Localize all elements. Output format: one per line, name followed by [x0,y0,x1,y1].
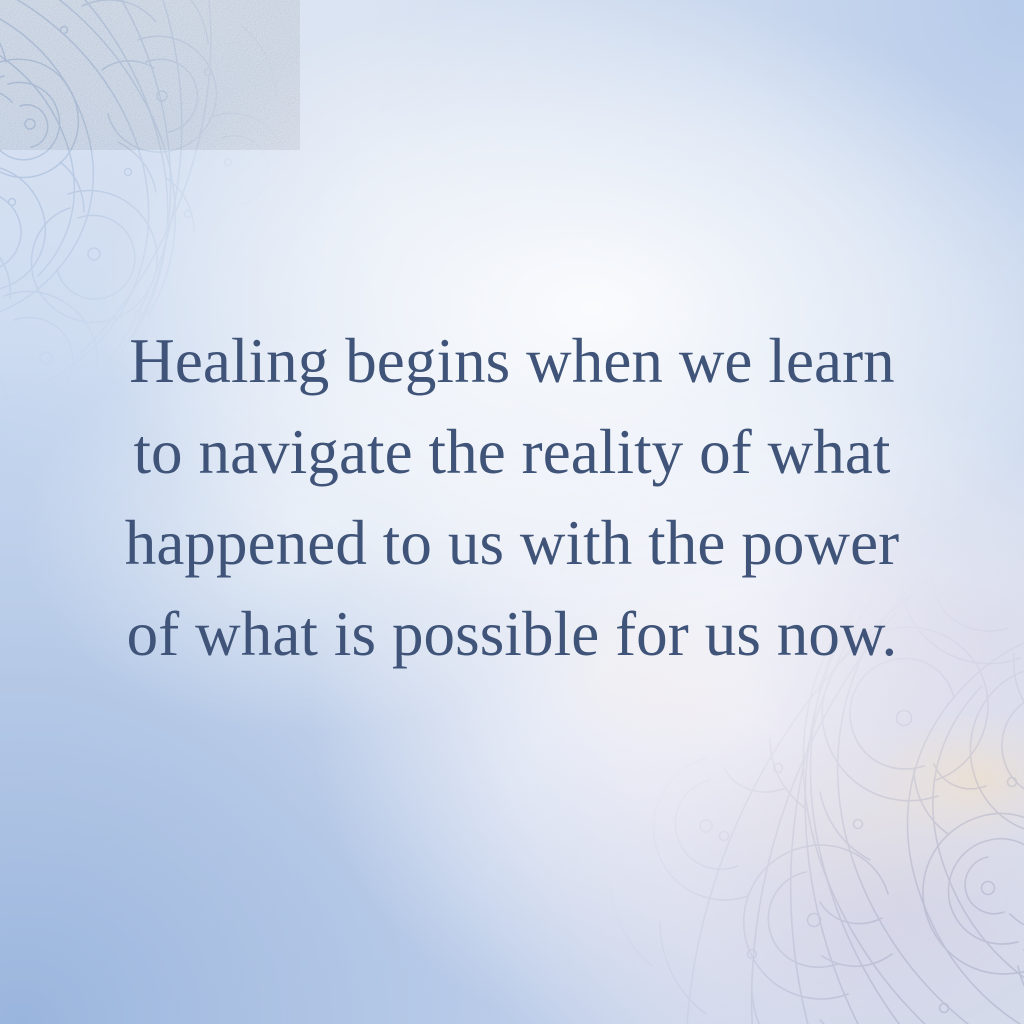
quote-line-3: happened to us with the power [48,498,976,589]
quote-line-1: Healing begins when we learn [48,316,976,407]
quote-line-2: to navigate the reality of what [48,407,976,498]
quote-text-block: Healing begins when we learn to navigate… [0,316,1024,680]
quote-card: Healing begins when we learn to navigate… [0,0,1024,1024]
quote-line-4: of what is possible for us now. [48,589,976,680]
paper-grain-texture [0,0,300,150]
